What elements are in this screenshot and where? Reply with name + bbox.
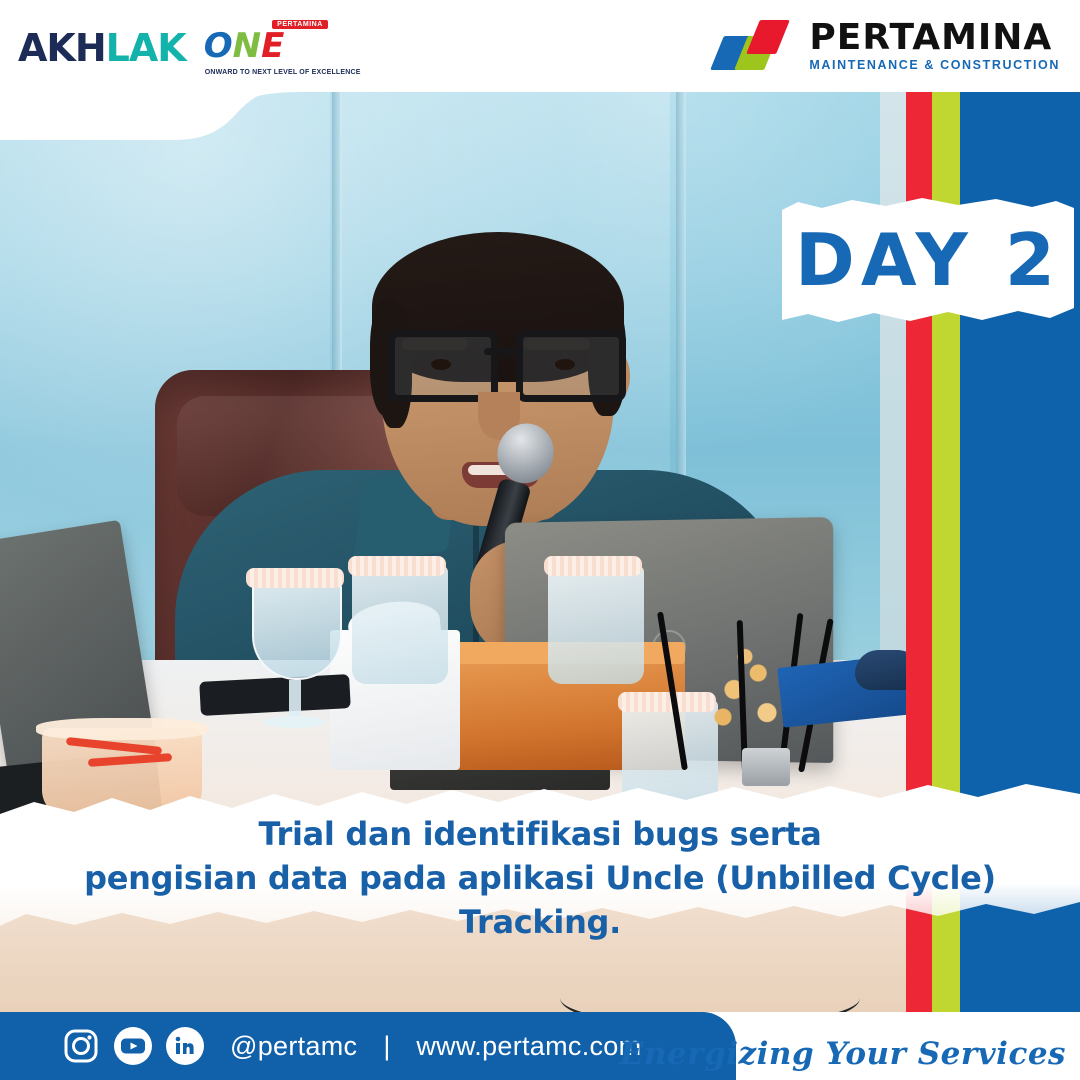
header-logo-group: AKHLAK PERTAMINA ONE ONWARD TO NEXT LEVE… <box>0 0 338 78</box>
glasses-bridge <box>484 348 518 355</box>
glass-lid-1 <box>246 568 344 588</box>
akhlak-part2: LAK <box>106 26 186 70</box>
arrow-red <box>747 20 791 54</box>
pertamina-arrow-mark <box>717 20 795 72</box>
caption-band: Trial dan identifikasi bugs serta pengis… <box>0 784 1080 932</box>
linkedin-icon[interactable] <box>166 1027 204 1065</box>
akhlak-logo: AKHLAK <box>18 29 186 67</box>
day-label: DAY 2 <box>782 196 1074 324</box>
caption-line-2: pengisian data pada aplikasi Uncle (Unbi… <box>0 856 1080 944</box>
glass-bowl-1 <box>252 580 342 680</box>
eyeglasses <box>388 330 612 392</box>
tumbler-lid-1 <box>348 556 446 576</box>
instagram-icon[interactable] <box>62 1027 100 1065</box>
one-letter-n: N <box>233 26 261 66</box>
poster-canvas: AKHLAK PERTAMINA ONE ONWARD TO NEXT LEVE… <box>0 0 1080 1080</box>
pertamina-subtitle: MAINTENANCE & CONSTRUCTION <box>809 58 1060 72</box>
glass-stem-1 <box>289 680 301 716</box>
day-badge: DAY 2 <box>782 196 1074 324</box>
one-letter-e: E <box>261 26 284 66</box>
youtube-icon[interactable] <box>114 1027 152 1065</box>
water-tumbler-2 <box>548 566 644 684</box>
diffuser-vase <box>742 748 790 786</box>
footer-separator: | <box>383 1031 390 1062</box>
tumbler-lid-2 <box>544 556 642 576</box>
caption-line-1: Trial dan identifikasi bugs serta <box>0 812 1080 856</box>
one-tagline: ONWARD TO NEXT LEVEL OF EXCELLENCE <box>205 69 361 76</box>
water-glass-1 <box>252 580 338 730</box>
pertamina-mc-logo: PERTAMINA MAINTENANCE & CONSTRUCTION <box>717 20 1060 72</box>
website-url[interactable]: www.pertamc.com <box>416 1031 641 1062</box>
brand-tagline: Energizing Your Services <box>620 1036 1066 1072</box>
glass-base-1 <box>264 716 326 728</box>
header-banner: AKHLAK PERTAMINA ONE ONWARD TO NEXT LEVE… <box>0 0 1080 160</box>
eye-right <box>555 359 575 370</box>
water-tumbler-1 <box>352 566 448 684</box>
pertamina-wordmark: PERTAMINA <box>809 20 1060 56</box>
lens-right <box>516 330 626 402</box>
social-handle[interactable]: @pertamc <box>230 1031 357 1062</box>
one-wordmark: ONE <box>204 29 285 63</box>
eye-left <box>431 359 451 370</box>
footer: @pertamc | www.pertamc.com Energizing Yo… <box>0 1012 1080 1080</box>
footer-content: @pertamc | www.pertamc.com <box>62 1012 641 1080</box>
pertamina-wordmark-group: PERTAMINA MAINTENANCE & CONSTRUCTION <box>809 20 1060 72</box>
pertamina-one-logo: PERTAMINA ONE ONWARD TO NEXT LEVEL OF EX… <box>204 20 328 76</box>
one-letter-o: O <box>204 26 233 66</box>
akhlak-part1: AKH <box>18 26 106 70</box>
caption-text: Trial dan identifikasi bugs serta pengis… <box>0 812 1080 944</box>
